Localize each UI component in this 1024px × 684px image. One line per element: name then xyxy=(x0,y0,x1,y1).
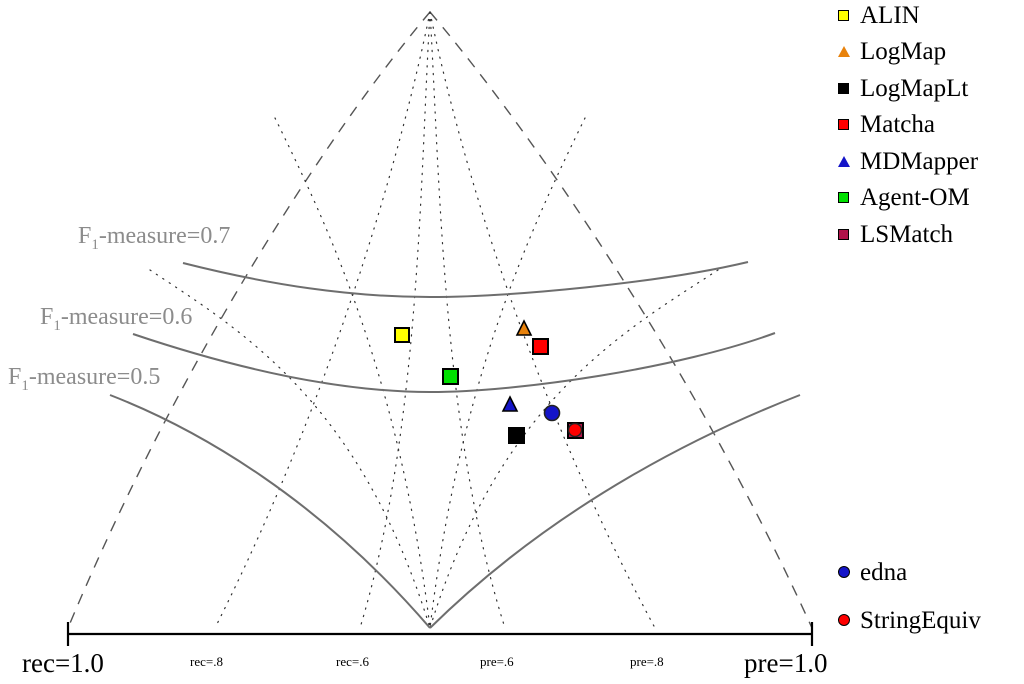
point-matcha[interactable] xyxy=(533,339,548,354)
legend-item-logmap[interactable]: LogMap xyxy=(838,39,978,65)
boundary-right-dashed xyxy=(430,12,812,628)
legend-item-label: StringEquiv xyxy=(860,608,981,633)
iso-grid-pre-06 xyxy=(430,12,505,628)
point-agent-om[interactable] xyxy=(443,369,458,384)
legend-systems: ALINLogMapLogMapLtMatchaMDMapperAgent-OM… xyxy=(838,2,978,247)
point-mdmapper[interactable] xyxy=(503,397,517,411)
iso-grid-rec-06 xyxy=(360,12,430,628)
iso-grid-rec-08 xyxy=(215,12,430,628)
square-marker-icon xyxy=(838,119,860,130)
legend-item-alin[interactable]: ALIN xyxy=(838,2,978,28)
legend-item-label: edna xyxy=(860,560,907,585)
axis-label-rec-08: rec=.8 xyxy=(190,655,223,668)
fmeasure-label-05: F1-measure=0.5 xyxy=(8,365,160,389)
square-marker-icon xyxy=(838,10,860,21)
square-glyph xyxy=(838,192,849,203)
fmeasure-label-07: F1-measure=0.7 xyxy=(78,224,230,248)
square-marker-icon xyxy=(838,83,860,94)
legend-item-stringequiv[interactable]: StringEquiv xyxy=(838,607,981,633)
square-glyph xyxy=(838,83,849,94)
triangle-glyph xyxy=(838,46,850,57)
square-glyph xyxy=(838,10,849,21)
fmeasure-curve-05-right xyxy=(430,395,800,628)
square-marker-icon xyxy=(838,192,860,203)
legend-item-edna[interactable]: edna xyxy=(838,559,981,585)
triangle-glyph xyxy=(838,156,850,167)
legend-baselines: ednaStringEquiv xyxy=(838,559,981,633)
precision-recall-chart: F1-measure=0.7 F1-measure=0.6 F1-measure… xyxy=(0,0,1024,684)
circle-marker-icon xyxy=(838,614,860,626)
legend-item-logmaplt[interactable]: LogMapLt xyxy=(838,75,978,101)
legend-item-label: LogMapLt xyxy=(860,76,968,101)
legend-item-label: MDMapper xyxy=(860,149,978,174)
iso-grid-cross-left xyxy=(275,118,430,628)
point-edna[interactable] xyxy=(545,406,560,421)
fmeasure-label-06: F1-measure=0.6 xyxy=(40,305,192,329)
point-stringequiv[interactable] xyxy=(569,424,582,437)
legend-item-label: Agent-OM xyxy=(860,185,970,210)
circle-marker-icon xyxy=(838,566,860,578)
fmeasure-curve-07 xyxy=(183,262,748,297)
legend-item-lsmatch[interactable]: LSMatch xyxy=(838,221,978,247)
circle-glyph xyxy=(838,614,850,626)
point-alin[interactable] xyxy=(395,328,409,342)
triangle-marker-icon xyxy=(838,46,860,57)
legend-item-label: Matcha xyxy=(860,112,935,137)
fmeasure-curve-05 xyxy=(110,395,430,628)
iso-grid-cross-right-lower xyxy=(430,270,718,628)
legend-item-label: LSMatch xyxy=(860,222,953,247)
iso-grid-pre-08 xyxy=(430,12,655,628)
axis-label-rec-10: rec=1.0 xyxy=(22,650,104,677)
triangle-marker-icon xyxy=(838,156,860,167)
square-glyph xyxy=(838,119,849,130)
square-glyph xyxy=(838,229,849,240)
axis-label-pre-08: pre=.8 xyxy=(630,655,664,668)
legend-item-matcha[interactable]: Matcha xyxy=(838,112,978,138)
legend-item-agent-om[interactable]: Agent-OM xyxy=(838,185,978,211)
axis-label-rec-06: rec=.6 xyxy=(336,655,369,668)
circle-glyph xyxy=(838,566,850,578)
legend-item-label: LogMap xyxy=(860,39,946,64)
axis-label-pre-06: pre=.6 xyxy=(480,655,514,668)
square-marker-icon xyxy=(838,229,860,240)
axis-label-pre-10: pre=1.0 xyxy=(744,650,827,677)
legend-item-mdmapper[interactable]: MDMapper xyxy=(838,148,978,174)
legend-item-label: ALIN xyxy=(860,3,920,28)
point-logmaplt[interactable] xyxy=(509,428,524,443)
